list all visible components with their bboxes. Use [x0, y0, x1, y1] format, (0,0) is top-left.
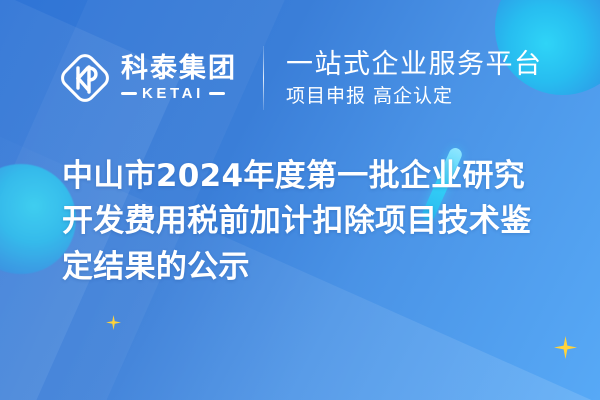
- brand-name-en-row: KETAI: [121, 86, 237, 101]
- brand-slogan: 一站式企业服务平台 项目申报 高企认定: [286, 49, 543, 108]
- header-divider: [263, 46, 264, 110]
- promo-banner: 科泰集团 KETAI 一站式企业服务平台 项目申报 高企认定 中山市2024年度…: [0, 0, 600, 400]
- ketai-diamond-monogram-icon: [58, 51, 112, 105]
- brand-logo[interactable]: 科泰集团 KETAI: [58, 51, 237, 105]
- wordmark-rule-right: [209, 92, 225, 95]
- wordmark-rule-left: [121, 92, 137, 95]
- sparkle-icon-right: [554, 336, 577, 359]
- background-dark-stripe: [0, 0, 48, 254]
- banner-header: 科泰集团 KETAI 一站式企业服务平台 项目申报 高企认定: [0, 40, 600, 116]
- page-title: 中山市2024年度第一批企业研究开发费用税前加计扣除项目技术鉴定结果的公示: [62, 154, 554, 290]
- brand-wordmark: 科泰集团 KETAI: [121, 55, 237, 101]
- brand-name-en: KETAI: [142, 86, 204, 101]
- slogan-secondary: 项目申报 高企认定: [286, 85, 543, 108]
- brand-name-cn: 科泰集团: [121, 55, 237, 83]
- sparkle-icon-left: [106, 315, 121, 330]
- slogan-primary: 一站式企业服务平台: [286, 49, 543, 81]
